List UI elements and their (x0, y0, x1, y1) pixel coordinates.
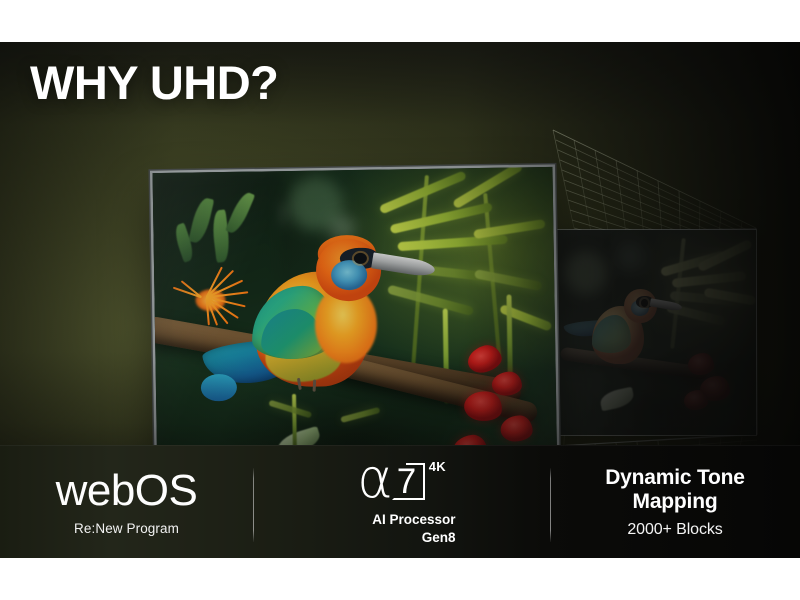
alpha7-subtitle-line1: AI Processor (372, 512, 455, 527)
uhd-promo-banner: WHY UHD? webOS Re:New Program α 7 (0, 42, 800, 558)
seven-in-box-icon: 7 (392, 463, 425, 500)
dtm-title-line1: Dynamic Tone (605, 466, 745, 489)
feature-divider-1 (253, 468, 254, 542)
alpha7-subtitle-line2: Gen8 (348, 529, 456, 547)
alpha7-logo: α 7 4K (357, 458, 446, 504)
resolution-badge: 4K (429, 459, 446, 474)
feature-divider-2 (550, 468, 551, 542)
webos-logo-text: webOS (56, 469, 198, 512)
dtm-title-line2: Mapping (633, 490, 718, 513)
page-title: WHY UHD? (30, 59, 278, 106)
alpha-symbol-icon: α (357, 458, 391, 500)
processor-number: 7 (397, 464, 416, 500)
dtm-subtitle: 2000+ Blocks (627, 521, 722, 539)
banner-page: WHY UHD? webOS Re:New Program α 7 (0, 0, 800, 600)
alpha7-subtitle: AI Processor Gen8 (348, 511, 456, 547)
dtm-title: Dynamic Tone Mapping (605, 466, 745, 515)
feature-bar: webOS Re:New Program α 7 4K (0, 445, 800, 558)
feature-webos[interactable]: webOS Re:New Program (0, 446, 253, 558)
webos-subtitle: Re:New Program (74, 521, 179, 536)
feature-alpha7-processor[interactable]: α 7 4K AI Processor Gen8 (253, 446, 550, 558)
feature-dynamic-tone-mapping[interactable]: Dynamic Tone Mapping 2000+ Blocks (550, 446, 800, 558)
